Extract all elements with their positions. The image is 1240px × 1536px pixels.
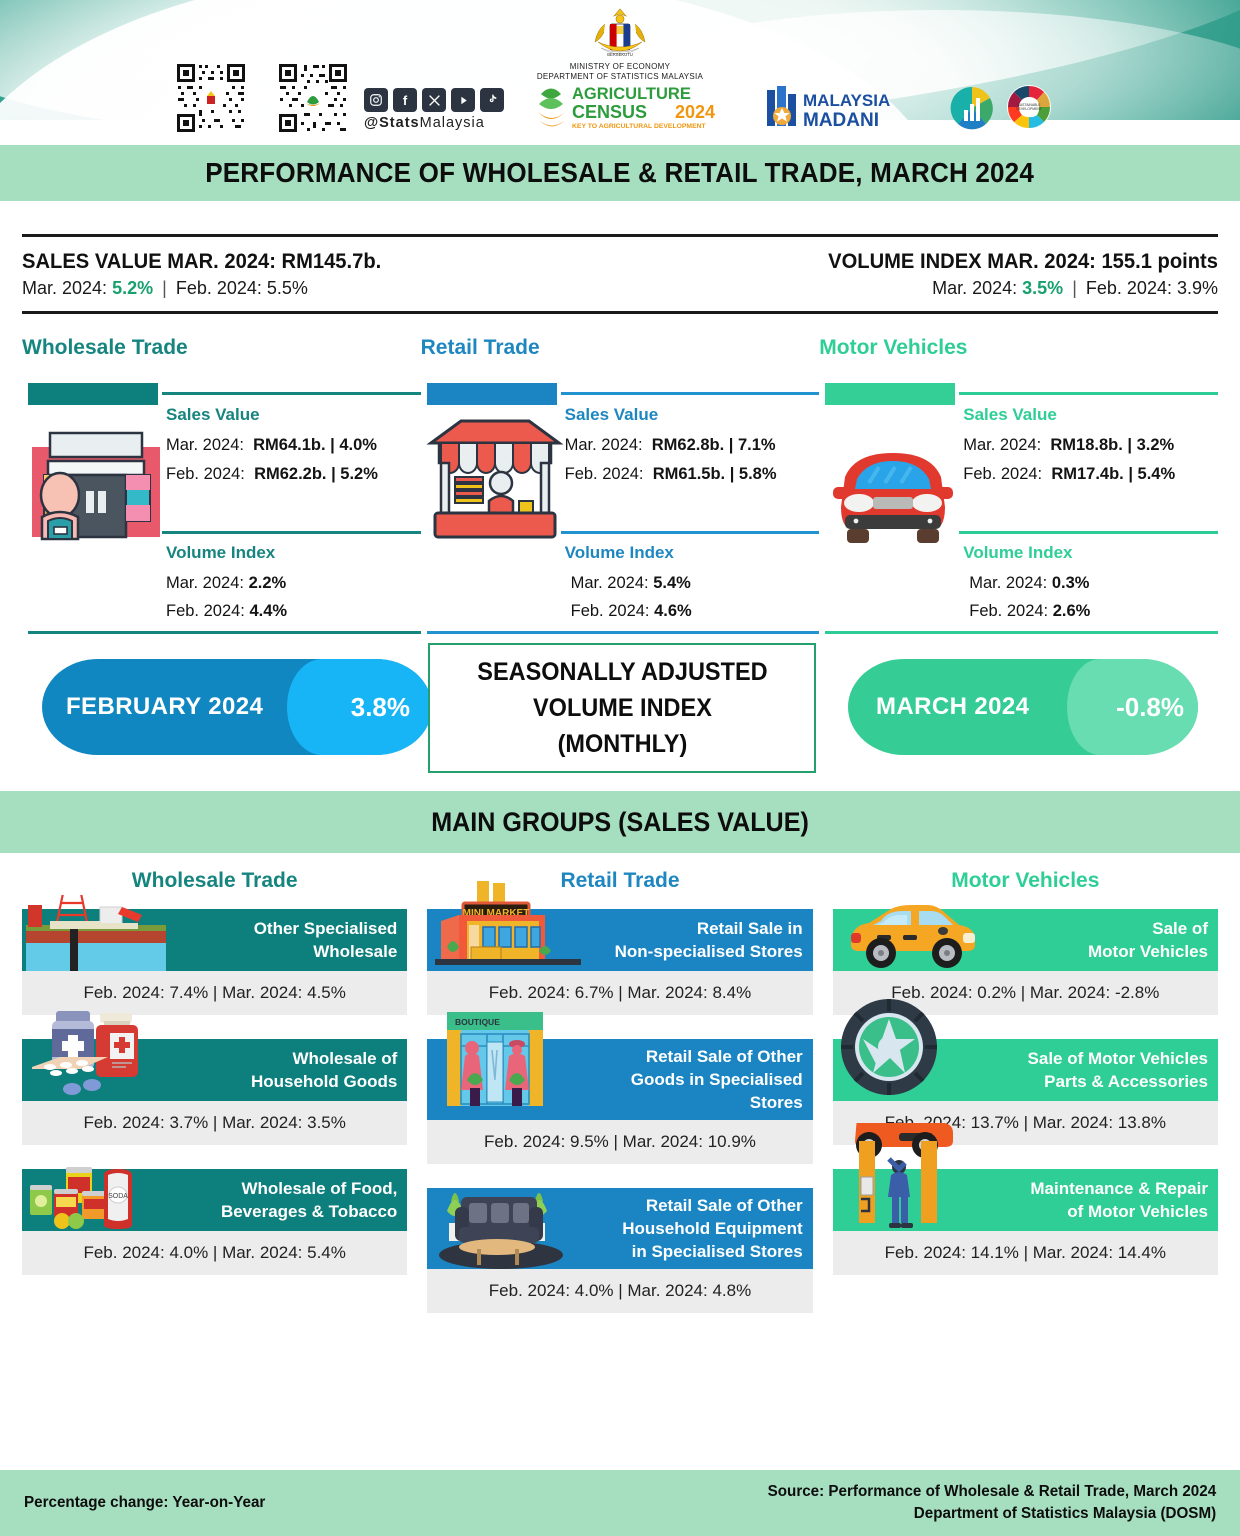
top-summary-stats: SALES VALUE MAR. 2024: RM145.7b. Mar. 20… <box>22 234 1218 314</box>
card-label: Maintenance & Repairof Motor Vehicles <box>1030 1177 1208 1223</box>
footer-source-line-2: Department of Statistics Malaysia (DOSM) <box>914 1505 1216 1522</box>
card-label: Retail Sale of OtherGoods in Specialised… <box>631 1045 803 1114</box>
main-group-column-wholesale: Wholesale Trade <box>22 869 407 1337</box>
seasonally-adjusted-march: MARCH 2024 -0.8% <box>848 659 1198 755</box>
card-label: Sale of Motor VehiclesParts & Accessorie… <box>1028 1047 1208 1093</box>
volume-index-summary: VOLUME INDEX MAR. 2024: 155.1 points Mar… <box>620 241 1218 303</box>
card-wholesale-food-beverages-tobacco: SODA Wholesale of Food,Beverages & Tobac… <box>22 1169 407 1275</box>
divider-top <box>561 392 820 395</box>
card-retail-sale-other-goods-specialised: BOUTIQUE <box>427 1039 812 1164</box>
oil-rig-icon <box>26 895 166 971</box>
svg-text:BOUTIQUE: BOUTIQUE <box>455 1017 500 1027</box>
volume-index-label: Volume Index <box>565 543 692 563</box>
column-heading-motor: Motor Vehicles <box>833 869 1218 899</box>
tiktok-icon[interactable] <box>480 88 504 112</box>
card-label: Wholesale of Food,Beverages & Tobacco <box>221 1177 397 1223</box>
card-retail-sale-other-household-equipment: Retail Sale of OtherHousehold Equipmenti… <box>427 1188 812 1313</box>
qr-code-dosm[interactable] <box>175 62 247 134</box>
volume-index-feb-row: Feb. 2024: 2.6% <box>969 597 1090 625</box>
instagram-icon[interactable] <box>364 88 388 112</box>
sales-value-feb-row: Feb. 2024: RM17.4b. | 5.4% <box>963 460 1175 489</box>
card-values: Feb. 2024: 14.1% | Mar. 2024: 14.4% <box>833 1231 1218 1275</box>
card-label: Wholesale ofHousehold Goods <box>251 1047 397 1093</box>
volume-index-block-wholesale: Volume Index Mar. 2024: 2.2% Feb. 2024: … <box>166 543 287 625</box>
card-label: Retail Sale inNon-specialised Stores <box>615 917 803 963</box>
main-groups-title: MAIN GROUPS (SALES VALUE) <box>431 807 809 838</box>
canned-food-icon: SODA <box>26 1163 156 1231</box>
divider-top <box>959 392 1218 395</box>
svg-text:AGRICULTURE: AGRICULTURE <box>572 85 691 103</box>
social-media-block: f @StatsMalaysia <box>364 88 529 131</box>
tyre-icon <box>837 997 941 1101</box>
volume-index-label: Volume Index <box>963 543 1090 563</box>
footer-source: Source: Performance of Wholesale & Retai… <box>767 1481 1216 1525</box>
svg-text:MALAYSIA: MALAYSIA <box>803 91 890 110</box>
car-lift-repair-icon <box>837 1123 963 1231</box>
volume-index-mar-row: Mar. 2024: 5.4% <box>571 569 692 597</box>
card-values: Feb. 2024: 4.0% | Mar. 2024: 4.8% <box>427 1269 812 1313</box>
card-label: Other SpecialisedWholesale <box>254 917 398 963</box>
card-label: Retail Sale of OtherHousehold Equipmenti… <box>622 1194 802 1263</box>
volume-index-change: Mar. 2024: 3.5% | Feb. 2024: 3.9% <box>620 278 1218 303</box>
divider-bottom <box>427 631 820 634</box>
footer-source-line-1: Source: Performance of Wholesale & Retai… <box>767 1483 1216 1500</box>
divider: | <box>158 278 171 298</box>
divider-bottom <box>825 631 1218 634</box>
divider-mid <box>959 531 1218 534</box>
volume-index-label: Volume Index <box>166 543 287 563</box>
sa-title-line-1: SEASONALLY ADJUSTED <box>477 658 767 686</box>
sales-value-label: Sales Value <box>166 405 378 425</box>
card-values: Feb. 2024: 3.7% | Mar. 2024: 3.5% <box>22 1101 407 1145</box>
card-other-specialised-wholesale: Other SpecialisedWholesale Feb. 2024: 7.… <box>22 909 407 1015</box>
february-value: 3.8% <box>351 692 410 723</box>
malaysia-madani-logo: MALAYSIA MADANI <box>765 84 940 132</box>
sales-value-summary: SALES VALUE MAR. 2024: RM145.7b. Mar. 20… <box>22 241 620 303</box>
march-label: MARCH 2024 <box>876 693 1029 721</box>
card-retail-sale-non-specialised-stores: MINI MARKET <box>427 909 812 1015</box>
volume-index-feb: Feb. 2024: 3.9% <box>1086 278 1218 298</box>
sales-value-feb-row: Feb. 2024: RM61.5b. | 5.8% <box>565 460 777 489</box>
march-value: -0.8% <box>1116 692 1184 723</box>
divider-bottom <box>28 631 421 634</box>
card-label: Sale ofMotor Vehicles <box>1088 917 1208 963</box>
main-groups-banner: MAIN GROUPS (SALES VALUE) <box>0 791 1240 853</box>
sales-value-feb-row: Feb. 2024: RM62.2b. | 5.2% <box>166 460 378 489</box>
main-group-column-retail: Retail Trade MINI MARKET <box>427 869 812 1337</box>
panel-title-motor: Motor Vehicles <box>819 336 1218 360</box>
sofa-icon <box>431 1179 569 1269</box>
boutique-icon: BOUTIQUE <box>431 1012 563 1120</box>
category-panels: Wholesale Trade <box>0 336 1240 633</box>
sales-value-label: Sales Value <box>565 405 777 425</box>
agriculture-census-logo: AGRICULTURE CENSUS 2024 KEY TO AGRICULTU… <box>535 82 763 132</box>
svg-text:KEY TO AGRICULTURAL DEVELOPMEN: KEY TO AGRICULTURAL DEVELOPMENT <box>572 123 707 130</box>
volume-index-feb-row: Feb. 2024: 4.6% <box>571 597 692 625</box>
x-twitter-icon[interactable] <box>422 88 446 112</box>
infographic-page: BERSEKUTU MINISTRY OF ECONOMY DEPARTMENT… <box>0 0 1240 1536</box>
sales-value-block-wholesale: Sales Value Mar. 2024: RM64.1b. | 4.0% F… <box>166 405 378 489</box>
wholesale-store-icon <box>26 413 166 543</box>
svg-text:BERSEKUTU: BERSEKUTU <box>607 52 633 57</box>
sales-value-mar-label: Mar. 2024: <box>22 278 107 298</box>
svg-text:SODA: SODA <box>108 1193 128 1200</box>
panel-title-retail: Retail Trade <box>421 336 820 360</box>
sales-value-heading: SALES VALUE MAR. 2024: RM145.7b. <box>22 241 596 278</box>
divider-mid <box>162 531 421 534</box>
volume-index-mar-row: Mar. 2024: 2.2% <box>166 569 287 597</box>
volume-index-mar-label: Mar. 2024: <box>932 278 1017 298</box>
volume-index-mar-value: 3.5% <box>1022 278 1063 298</box>
card-values: Feb. 2024: 6.7% | Mar. 2024: 8.4% <box>427 971 812 1015</box>
divider: | <box>1068 278 1081 298</box>
sales-value-mar-row: Mar. 2024: RM62.8b. | 7.1% <box>565 431 777 460</box>
sales-value-label: Sales Value <box>963 405 1175 425</box>
svg-text:CENSUS: CENSUS <box>572 102 647 122</box>
sdg-logo: SUSTAINABLE DEVELOPMENT <box>1006 84 1052 130</box>
sa-title-line-2: VOLUME INDEX <box>533 694 712 722</box>
sales-value-mar-row: Mar. 2024: RM64.1b. | 4.0% <box>166 431 378 460</box>
volume-index-heading: VOLUME INDEX MAR. 2024: 155.1 points <box>644 241 1218 278</box>
volume-index-block-motor: Volume Index Mar. 2024: 0.3% Feb. 2024: … <box>963 543 1090 625</box>
page-header: BERSEKUTU MINISTRY OF ECONOMY DEPARTMENT… <box>0 0 1240 145</box>
car-front-icon <box>823 431 963 561</box>
footer-note: Percentage change: Year-on-Year <box>24 1494 265 1512</box>
divider-top <box>162 392 421 395</box>
accent-bar <box>825 383 955 405</box>
volume-index-mar-row: Mar. 2024: 0.3% <box>969 569 1090 597</box>
page-footer: Percentage change: Year-on-Year Source: … <box>0 1470 1240 1536</box>
card-values: Feb. 2024: 4.0% | Mar. 2024: 5.4% <box>22 1231 407 1275</box>
dosm-wheel-logo <box>948 84 996 132</box>
volume-index-block-retail: Volume Index Mar. 2024: 5.4% Feb. 2024: … <box>565 543 692 625</box>
ministry-line-1: MINISTRY OF ECONOMY <box>470 62 770 72</box>
volume-index-feb-row: Feb. 2024: 4.4% <box>166 597 287 625</box>
sales-value-mar-row: Mar. 2024: RM18.8b. | 3.2% <box>963 431 1175 460</box>
sales-value-change: Mar. 2024: 5.2% | Feb. 2024: 5.5% <box>22 278 620 303</box>
sa-title-line-3: (MONTHLY) <box>557 730 687 758</box>
seasonally-adjusted-title-box: SEASONALLY ADJUSTED VOLUME INDEX (MONTHL… <box>428 643 816 773</box>
ministry-line-2: DEPARTMENT OF STATISTICS MALAYSIA <box>470 72 770 82</box>
svg-text:2024: 2024 <box>675 102 715 122</box>
medicine-bottles-icon <box>26 1005 166 1101</box>
divider-mid <box>561 531 820 534</box>
seasonally-adjusted-february: FEBRUARY 2024 3.8% <box>42 659 432 755</box>
ministry-text: MINISTRY OF ECONOMY DEPARTMENT OF STATIS… <box>470 62 770 82</box>
retail-stall-icon <box>425 413 565 543</box>
social-handle: @StatsMalaysia <box>364 115 529 131</box>
sales-value-mar-value: 5.2% <box>112 278 153 298</box>
accent-bar <box>28 383 158 405</box>
card-wholesale-household-goods: Wholesale ofHousehold Goods Feb. 2024: 3… <box>22 1039 407 1145</box>
card-maintenance-repair-motor-vehicles: Maintenance & Repairof Motor Vehicles Fe… <box>833 1169 1218 1275</box>
qr-code-agriculture-census[interactable] <box>277 62 349 134</box>
february-label: FEBRUARY 2024 <box>66 693 263 721</box>
youtube-icon[interactable] <box>451 88 475 112</box>
panel-wholesale-trade: Wholesale Trade <box>22 336 421 633</box>
panel-title-wholesale: Wholesale Trade <box>22 336 421 360</box>
facebook-icon[interactable]: f <box>393 88 417 112</box>
panel-retail-trade: Retail Trade <box>421 336 820 633</box>
page-title: PERFORMANCE OF WHOLESALE & RETAIL TRADE,… <box>206 157 1035 189</box>
title-banner: PERFORMANCE OF WHOLESALE & RETAIL TRADE,… <box>0 145 1240 201</box>
panel-motor-vehicles: Motor Vehicles <box>819 336 1218 633</box>
card-values: Feb. 2024: 9.5% | Mar. 2024: 10.9% <box>427 1120 812 1164</box>
accent-bar <box>427 383 557 405</box>
svg-text:DEVELOPMENT: DEVELOPMENT <box>1016 107 1042 111</box>
sales-value-block-retail: Sales Value Mar. 2024: RM62.8b. | 7.1% F… <box>565 405 777 489</box>
main-groups-grid: Wholesale Trade <box>0 853 1240 1337</box>
seasonally-adjusted-section: FEBRUARY 2024 3.8% SEASONALLY ADJUSTED V… <box>0 643 1240 773</box>
svg-text:MADANI: MADANI <box>803 110 879 131</box>
malaysia-crest-icon: BERSEKUTU <box>583 6 657 64</box>
main-group-column-motor: Motor Vehicles <box>833 869 1218 1337</box>
sales-value-feb: Feb. 2024: 5.5% <box>176 278 308 298</box>
sales-value-block-motor: Sales Value Mar. 2024: RM18.8b. | 3.2% F… <box>963 405 1175 489</box>
yellow-car-icon <box>837 897 993 971</box>
mini-market-building-icon: MINI MARKET <box>431 881 583 971</box>
